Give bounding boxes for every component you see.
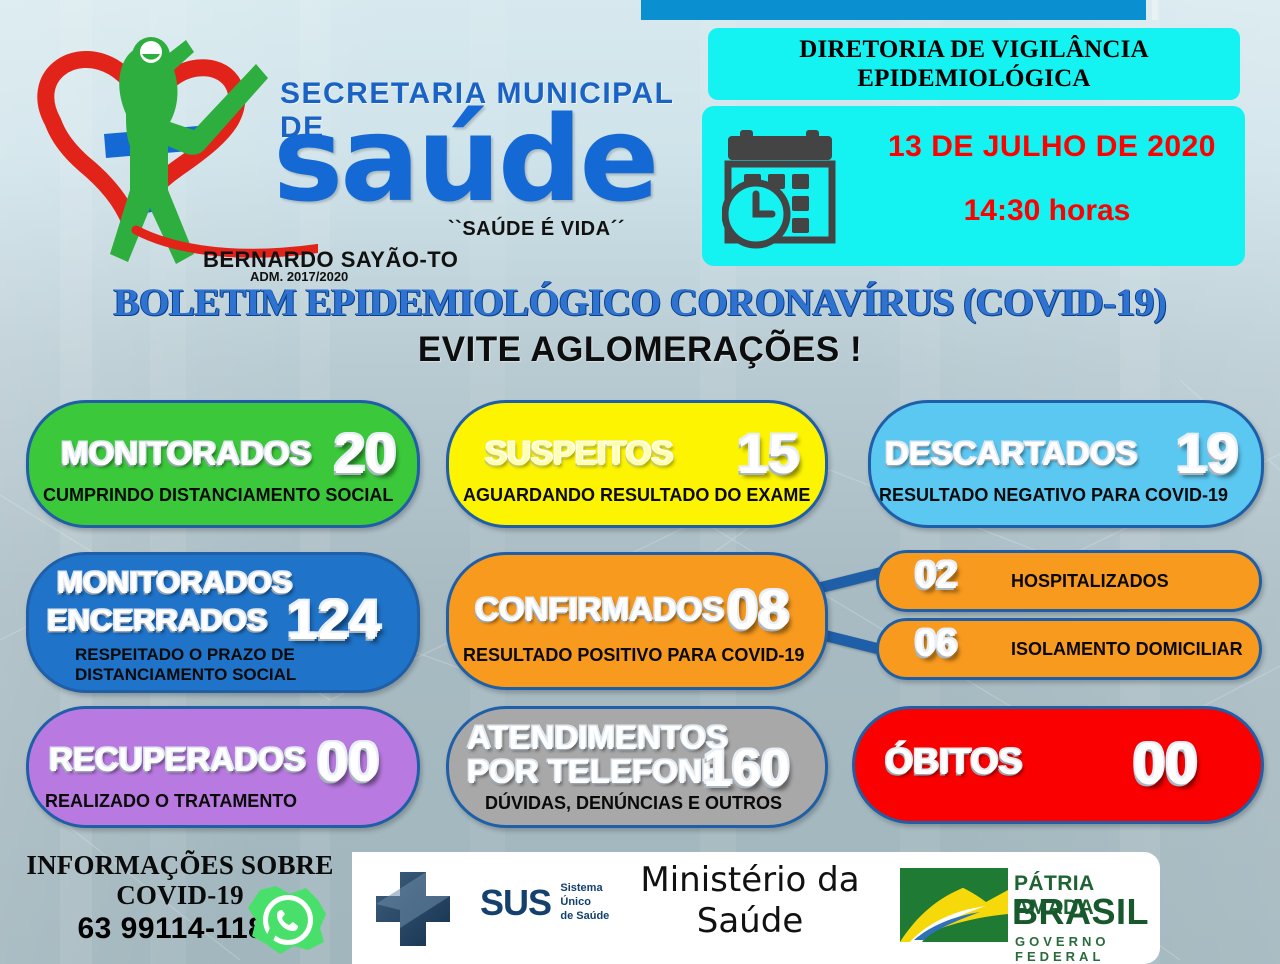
secretaria-logo: SECRETARIA MUNICIPAL DE saúde ``SAÚDE É … (18, 22, 708, 277)
page-subtitle: EVITE AGLOMERAÇÕES ! (0, 330, 1280, 370)
logo-wordmark: saúde (273, 100, 656, 218)
top-bar-tick (1152, 0, 1158, 20)
stat-card-obitos: ÓBITOS 00 (852, 706, 1264, 824)
sus-line2: Único (560, 896, 609, 910)
breakdown-value: 06 (915, 623, 957, 666)
card-label: CONFIRMADOS (475, 591, 724, 629)
top-blue-bar (641, 0, 1146, 20)
card-subtitle-line2: DISTANCIAMENTO SOCIAL (75, 665, 296, 685)
sus-line1: Sistema (560, 882, 609, 896)
sus-wordmark: SUS (480, 885, 551, 921)
sus-wordmark-group: SUS Sistema Único de Saúde (480, 882, 609, 923)
card-value: 00 (317, 729, 379, 794)
card-subtitle: CUMPRINDO DISTANCIAMENTO SOCIAL (43, 485, 393, 506)
card-label: SUSPEITOS (485, 435, 673, 473)
date-time-box: 13 DE JULHO DE 2020 14:30 horas (702, 106, 1245, 266)
patria-line3: GOVERNO FEDERAL (1015, 934, 1160, 964)
card-label-line1: ATENDIMENTOS (467, 719, 728, 757)
card-subtitle: RESULTADO NEGATIVO PARA COVID-19 (879, 485, 1228, 506)
card-subtitle: RESULTADO POSITIVO PARA COVID-19 (463, 645, 804, 666)
patria-line2: BRASIL (1012, 894, 1149, 930)
card-value: 19 (1176, 421, 1238, 486)
card-label-line2: POR TELEFONE (467, 753, 724, 791)
sus-line3: de Saúde (560, 910, 609, 924)
bulletin-time: 14:30 horas (872, 194, 1222, 228)
brazil-flag-icon (900, 868, 1008, 942)
ministry-label: Ministério da Saúde (610, 860, 890, 943)
card-subtitle: AGUARDANDO RESULTADO DO EXAME (463, 485, 810, 506)
poster-root: SECRETARIA MUNICIPAL DE saúde ``SAÚDE É … (0, 0, 1280, 964)
stat-card-atendimentos-por-telefone: ATENDIMENTOS POR TELEFONE 160 DÚVIDAS, D… (446, 706, 828, 828)
footer-logos-panel: SUS Sistema Único de Saúde Ministério da… (352, 852, 1160, 964)
card-value: 20 (334, 421, 396, 486)
card-value: 160 (703, 739, 790, 799)
stat-card-suspeitos: SUSPEITOS 15 AGUARDANDO RESULTADO DO EXA… (446, 400, 828, 528)
breakdown-value: 02 (915, 555, 957, 598)
card-label-line1: MONITORADOS (57, 565, 292, 601)
card-label-line2: ENCERRADOS (47, 603, 267, 639)
breakdown-label: HOSPITALIZADOS (1011, 571, 1169, 592)
page-title: BOLETIM EPIDEMIOLÓGICO CORONAVÍRUS (COVI… (0, 280, 1280, 325)
card-label: RECUPERADOS (49, 741, 306, 779)
logo-slogan: ``SAÚDE É VIDA´´ (448, 218, 625, 241)
card-value: 00 (1133, 731, 1198, 798)
card-subtitle: DÚVIDAS, DENÚNCIAS E OUTROS (485, 793, 782, 814)
sus-cross-icon (370, 868, 478, 952)
card-label: MONITORADOS (61, 435, 312, 473)
stat-card-descartados: DESCARTADOS 19 RESULTADO NEGATIVO PARA C… (868, 400, 1264, 528)
stat-card-monitorados: MONITORADOS 20 CUMPRINDO DISTANCIAMENTO … (26, 400, 420, 528)
info-line1: INFORMAÇÕES SOBRE (20, 850, 340, 880)
stat-card-confirmados: CONFIRMADOS 08 RESULTADO POSITIVO PARA C… (446, 552, 828, 690)
whatsapp-contact[interactable] (246, 884, 330, 956)
stat-card-monitorados-encerrados: MONITORADOS ENCERRADOS 124 RESPEITADO O … (26, 552, 420, 693)
card-subtitle: REALIZADO O TRATAMENTO (45, 791, 297, 812)
breakdown-label: ISOLAMENTO DOMICILIAR (1011, 639, 1243, 660)
breakdown-card-isolamento-domiciliar: 06 ISOLAMENTO DOMICILIAR (876, 618, 1262, 680)
whatsapp-icon[interactable] (246, 884, 330, 956)
card-value: 08 (727, 577, 789, 642)
card-value: 124 (287, 587, 380, 652)
bulletin-date: 13 DE JULHO DE 2020 (872, 130, 1232, 164)
card-subtitle-line1: RESPEITADO O PRAZO DE (75, 645, 295, 665)
directorate-label: DIRETORIA DE VIGILÂNCIA EPIDEMIOLÓGICA (708, 35, 1240, 94)
card-label: ÓBITOS (885, 741, 1022, 783)
breakdown-card-hospitalizados: 02 HOSPITALIZADOS (876, 550, 1262, 612)
card-label: DESCARTADOS (885, 435, 1137, 473)
stat-card-recuperados: RECUPERADOS 00 REALIZADO O TRATAMENTO (26, 706, 420, 828)
card-value: 15 (737, 421, 799, 486)
directorate-box: DIRETORIA DE VIGILÂNCIA EPIDEMIOLÓGICA (708, 28, 1240, 100)
calendar-clock-icon (722, 120, 852, 252)
